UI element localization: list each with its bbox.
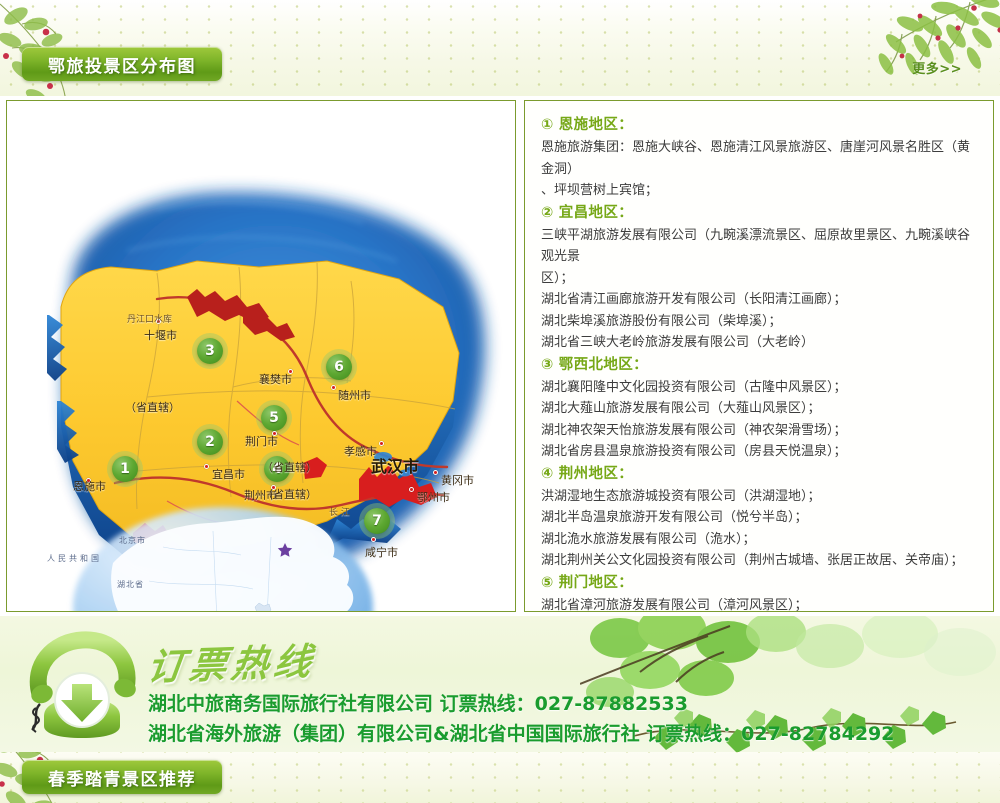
section-line: 湖北省清江画廊旅游开发有限公司（长阳清江画廊）；	[541, 289, 979, 311]
province-direct-label: （省直辖）	[125, 399, 180, 415]
marker-number: 3	[205, 343, 215, 359]
map-marker-3[interactable]: 3	[197, 338, 223, 364]
section-number: ①	[541, 117, 554, 133]
section-line: 湖北省漳河旅游发展有限公司（漳河风景区）；	[541, 595, 979, 612]
section-title: 宜昌地区：	[559, 205, 634, 221]
inset-country-label: 人民共和国	[47, 553, 102, 564]
hubei-map[interactable]: 1 2 3 4 5 6 7	[7, 101, 515, 611]
city-dot	[409, 487, 414, 492]
city-label-ezhou: 鄂州市	[417, 489, 450, 505]
section-number: ②	[541, 205, 554, 221]
scenic-area-list-panel: ①恩施地区： 恩施旅游集团：恩施大峡谷、恩施清江风景旅游区、唐崖河风景名胜区（黄…	[524, 100, 994, 612]
section-number: ③	[541, 357, 554, 373]
page-header: 鄂旅投景区分布图 更多>>	[0, 0, 1000, 96]
section-title: 荆州地区：	[559, 466, 634, 482]
telephone-download-icon[interactable]	[26, 630, 138, 740]
hotline-script-title: 订票热线	[144, 631, 319, 691]
section-line: 三峡平湖旅游发展有限公司（九畹溪漂流景区、屈原故里景区、九畹溪峡谷观光景	[541, 225, 979, 268]
marker-number: 7	[372, 513, 382, 529]
marker-number: 1	[120, 461, 130, 477]
section-line: 区）；	[541, 268, 979, 290]
section-heading-4: ④荆州地区：	[541, 463, 979, 486]
city-label-suizhou: 随州市	[338, 387, 371, 403]
map-marker-7[interactable]: 7	[364, 508, 390, 534]
city-dot	[379, 441, 384, 446]
map-graphic	[7, 101, 515, 611]
section-number: ④	[541, 466, 554, 482]
section-line: 湖北神农架天怡旅游发展有限公司（神农架滑雪场）；	[541, 420, 979, 442]
section-line: 湖北柴埠溪旅游股份有限公司（柴埠溪）；	[541, 311, 979, 333]
section-line: 湖北省三峡大老岭旅游发展有限公司（大老岭）	[541, 332, 979, 354]
city-dot	[371, 537, 376, 542]
city-label-jingmen: 荆门市	[245, 433, 278, 449]
inset-capital-label: 北京市	[119, 535, 146, 546]
scenic-area-list: ①恩施地区： 恩施旅游集团：恩施大峡谷、恩施清江风景旅游区、唐崖河风景名胜区（黄…	[525, 101, 993, 611]
city-label-enshi: 恩施市	[73, 478, 106, 494]
section-heading-5: ⑤荆门地区：	[541, 572, 979, 595]
city-dot	[331, 385, 336, 390]
hotline-row-1: 湖北中旅商务国际旅行社有限公司 订票热线：027-87882533	[148, 689, 688, 716]
city-dot	[433, 470, 438, 475]
map-marker-6[interactable]: 6	[326, 354, 352, 380]
content-area: 1 2 3 4 5 6 7	[0, 96, 1000, 616]
province-direct-label: （省直辖）	[262, 486, 317, 502]
marker-number: 6	[334, 359, 344, 375]
city-dot	[204, 464, 209, 469]
city-label-xianning: 咸宁市	[365, 544, 398, 560]
section-line: 湖北大薤山旅游发展有限公司（大薤山风景区）；	[541, 398, 979, 420]
section-title: 恩施地区：	[559, 117, 634, 133]
section-line: 湖北襄阳隆中文化园投资有限公司（古隆中风景区）；	[541, 377, 979, 399]
city-label-yichang: 宜昌市	[212, 466, 245, 482]
map-marker-5[interactable]: 5	[261, 405, 287, 431]
section-heading-3: ③鄂西北地区：	[541, 354, 979, 377]
map-marker-2[interactable]: 2	[197, 429, 223, 455]
bottom-bar: 春季踏青景区推荐	[0, 752, 1000, 803]
city-label-shiyan: 十堰市	[144, 327, 177, 343]
section-line: 湖北半岛温泉旅游开发有限公司（悦兮半岛）；	[541, 507, 979, 529]
section-line: 、坪坝营树上宾馆；	[541, 180, 979, 202]
section-heading-1: ①恩施地区：	[541, 114, 979, 137]
section-number: ⑤	[541, 575, 554, 591]
reservoir-label: 丹江口水库	[127, 312, 172, 325]
bottom-tab-label: 春季踏青景区推荐	[48, 765, 196, 790]
marker-number: 2	[205, 434, 215, 450]
section-line: 洪湖湿地生态旅游城投资有限公司（洪湖湿地）；	[541, 486, 979, 508]
section-line: 湖北洈水旅游发展有限公司（洈水）；	[541, 529, 979, 551]
map-marker-1[interactable]: 1	[112, 456, 138, 482]
city-label-wuhan: 武汉市	[371, 453, 419, 477]
inset-province-label: 湖北省	[117, 579, 144, 590]
page-title: 鄂旅投景区分布图	[48, 52, 196, 77]
marker-number: 5	[269, 410, 279, 426]
yangtze-label: 长 江	[329, 505, 350, 518]
page-title-tab[interactable]: 鄂旅投景区分布图	[22, 47, 222, 81]
hotline-section: 订票热线 湖北中旅商务国际旅行社有限公司 订票热线：027-87882533 湖…	[0, 616, 1000, 752]
more-link[interactable]: 更多>>	[912, 58, 962, 77]
section-line: 湖北荆州关公文化园投资有限公司（荆州古城墙、张居正故居、关帝庙）；	[541, 550, 979, 572]
city-label-huanggang: 黄冈市	[441, 472, 474, 488]
section-title: 荆门地区：	[559, 575, 634, 591]
section-title: 鄂西北地区：	[559, 357, 648, 373]
section-line: 恩施旅游集团：恩施大峡谷、恩施清江风景旅游区、唐崖河风景名胜区（黄金洞）	[541, 137, 979, 180]
bottom-tab-spring-recommendations[interactable]: 春季踏青景区推荐	[22, 760, 222, 794]
city-label-xiangfan: 襄樊市	[259, 371, 292, 387]
section-line: 湖北省房县温泉旅游投资有限公司（房县天悦温泉）；	[541, 441, 979, 463]
leaf-branch-icon	[770, 0, 1000, 96]
map-panel: 1 2 3 4 5 6 7	[6, 100, 516, 612]
province-direct-label: （省直辖）	[262, 459, 317, 475]
hotline-row-2: 湖北省海外旅游（集团）有限公司&湖北省中国国际旅行社 订票热线：027-8278…	[148, 719, 895, 746]
section-heading-2: ②宜昌地区：	[541, 202, 979, 225]
